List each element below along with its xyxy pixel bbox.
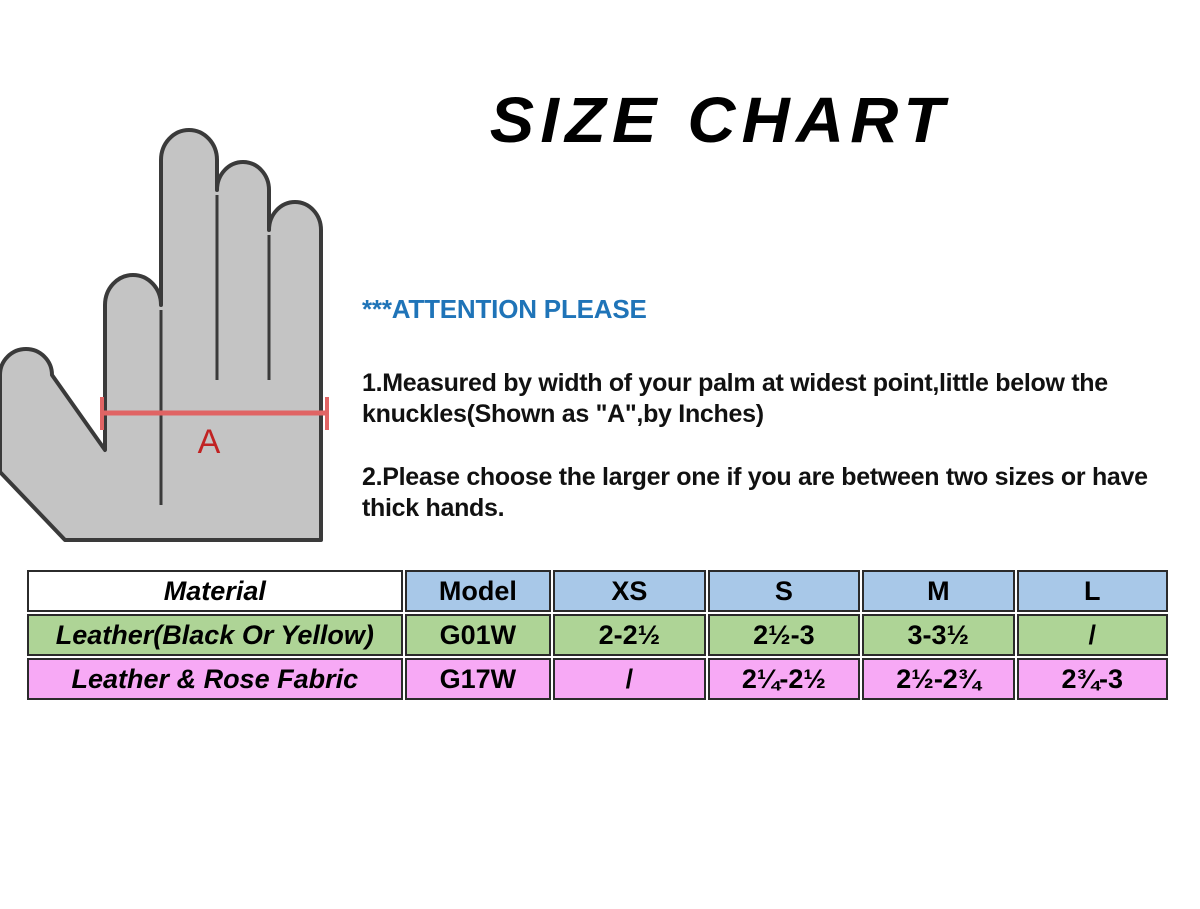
- row-g17w-m: 2½-2¾: [862, 658, 1014, 700]
- header-size-m: M: [862, 570, 1014, 612]
- attention-heading: ***ATTENTION PLEASE: [362, 294, 647, 325]
- row-model-g17w: G17W: [405, 658, 551, 700]
- row-g01w-l: /: [1017, 614, 1168, 656]
- instruction-note-2: 2.Please choose the larger one if you ar…: [362, 462, 1200, 524]
- table-header-row: Material Model XS S M L: [27, 570, 1168, 612]
- hand-illustration: A: [0, 120, 350, 560]
- table-row: Leather(Black Or Yellow) G01W 2-2½ 2½-3 …: [27, 614, 1168, 656]
- row-material-g01w: Leather(Black Or Yellow): [27, 614, 403, 656]
- header-model: Model: [405, 570, 551, 612]
- row-material-g17w: Leather & Rose Fabric: [27, 658, 403, 700]
- row-g01w-m: 3-3½: [862, 614, 1014, 656]
- page-title: SIZE CHART: [398, 88, 1043, 152]
- header-material: Material: [27, 570, 403, 612]
- row-g17w-l: 2¾-3: [1017, 658, 1168, 700]
- hand-silhouette: [0, 130, 321, 540]
- header-size-s: S: [708, 570, 860, 612]
- row-model-g01w: G01W: [405, 614, 551, 656]
- header-size-xs: XS: [553, 570, 705, 612]
- instruction-note-1: 1.Measured by width of your palm at wide…: [362, 368, 1200, 430]
- size-table: Material Model XS S M L Leather(Black Or…: [27, 570, 1168, 702]
- table-row: Leather & Rose Fabric G17W / 2¼-2½ 2½-2¾…: [27, 658, 1168, 700]
- row-g17w-xs: /: [553, 658, 705, 700]
- row-g17w-s: 2¼-2½: [708, 658, 860, 700]
- header-size-l: L: [1017, 570, 1168, 612]
- row-g01w-s: 2½-3: [708, 614, 860, 656]
- measure-label-a: A: [198, 423, 221, 461]
- size-chart-page: SIZE CHART A ***ATTENTION PLEASE 1.Measu…: [0, 0, 1200, 909]
- row-g01w-xs: 2-2½: [553, 614, 705, 656]
